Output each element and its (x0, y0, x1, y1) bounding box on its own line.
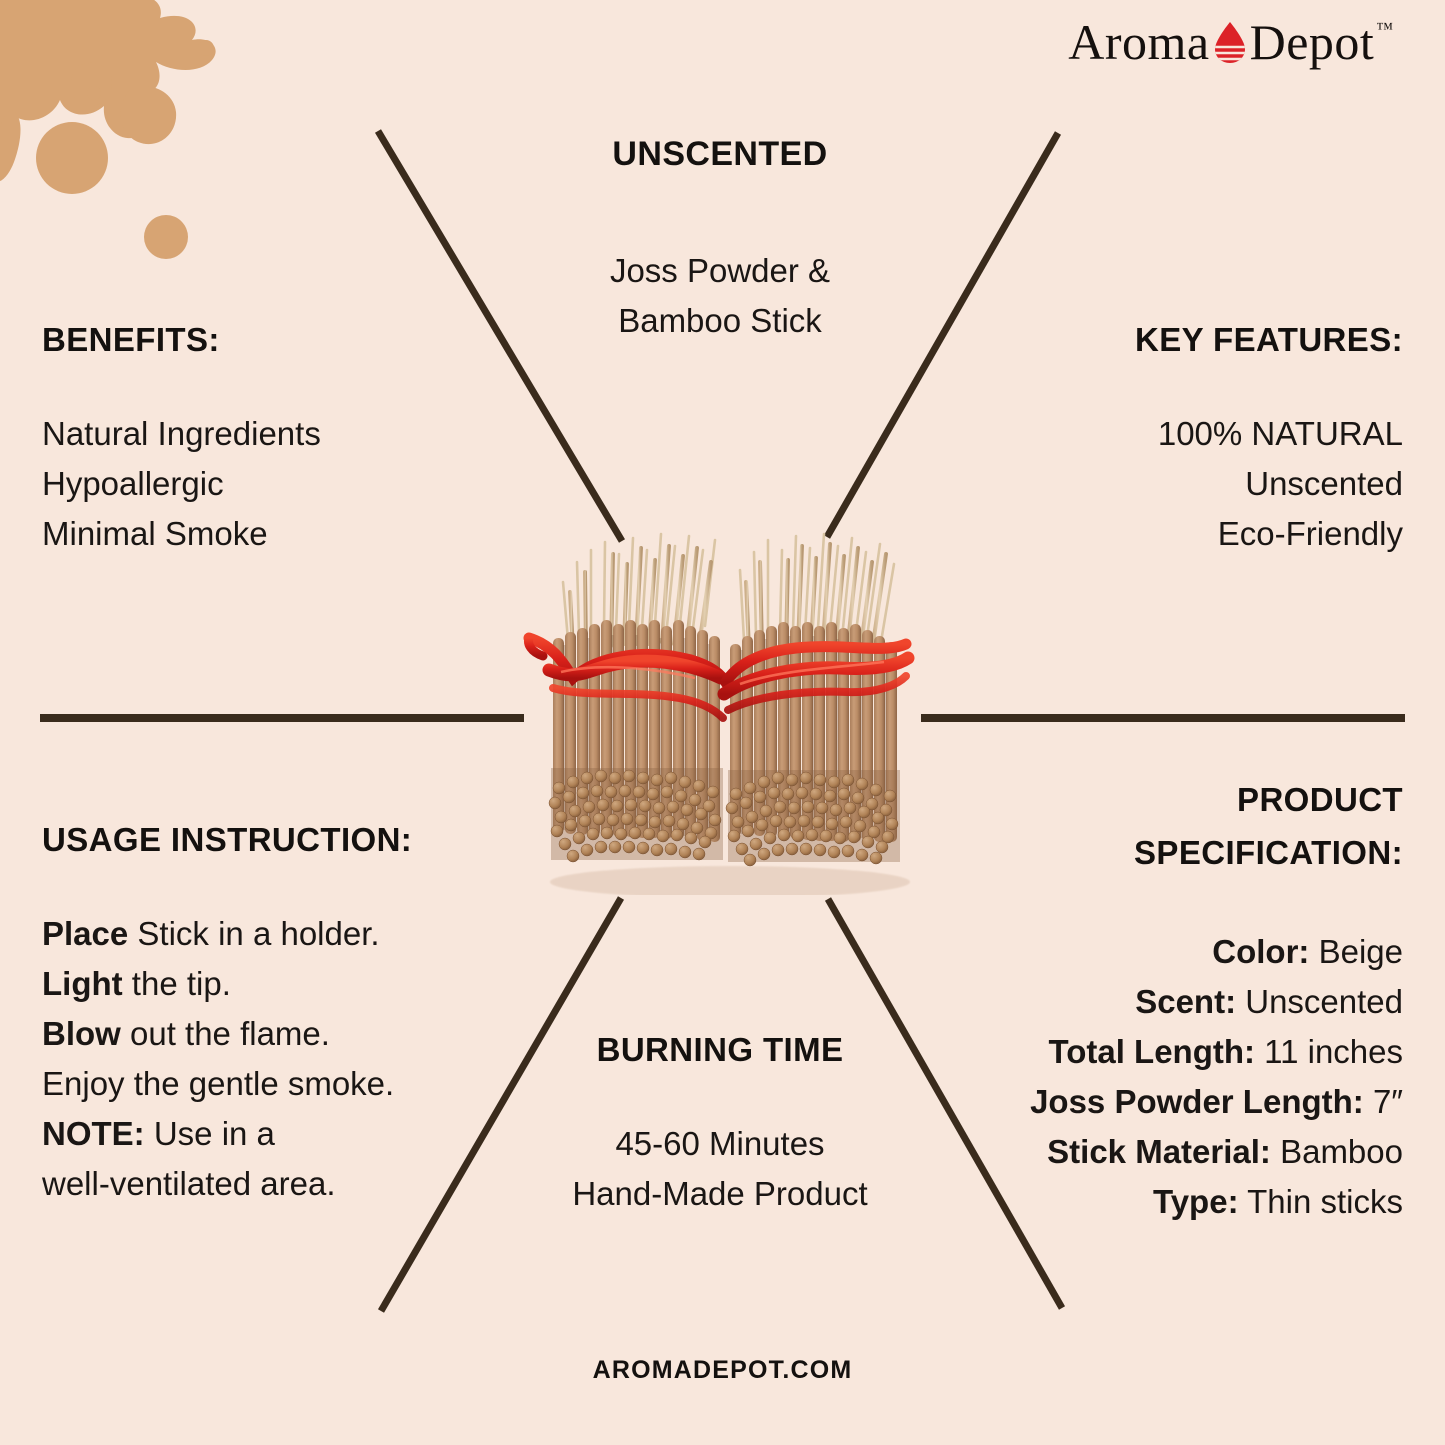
footer-website: AROMADEPOT.COM (0, 1356, 1445, 1385)
spec-value-total-length: 11 inches (1255, 1033, 1403, 1070)
section-unscented: UNSCENTED Joss Powder & Bamboo Stick (455, 133, 985, 346)
usage-step-3-keyword: Blow (42, 1015, 121, 1052)
unscented-heading: UNSCENTED (455, 133, 985, 176)
incense-bundles-image (515, 520, 945, 895)
logo-word-depot: Depot (1250, 14, 1375, 70)
benefits-heading: BENEFITS: (42, 318, 472, 361)
section-benefits: BENEFITS: Natural Ingredients Hypoallerg… (42, 318, 472, 559)
spec-label-total-length: Total Length: (1049, 1033, 1256, 1070)
paint-splatter-decoration (0, 0, 290, 270)
section-key-features: KEY FEATURES: 100% NATURAL Unscented Eco… (963, 318, 1403, 559)
usage-step-4-text: Enjoy the gentle smoke. (42, 1065, 394, 1102)
key-features-item-1: 100% NATURAL (963, 409, 1403, 459)
benefits-item-2: Hypoallergic (42, 459, 472, 509)
usage-step-2: Light the tip. (42, 959, 542, 1009)
spec-value-stick-material: Bamboo (1271, 1133, 1403, 1170)
product-spec-heading-line-2: SPECIFICATION: (903, 831, 1403, 875)
benefits-item-3: Minimal Smoke (42, 509, 472, 559)
usage-step-3-text: out the flame. (121, 1015, 330, 1052)
usage-step-5-keyword: NOTE: (42, 1115, 145, 1152)
usage-step-2-keyword: Light (42, 965, 123, 1002)
spec-value-color: Beige (1309, 933, 1403, 970)
trademark-symbol: ™ (1376, 20, 1393, 37)
key-features-item-2: Unscented (963, 459, 1403, 509)
cut-ends-right (726, 770, 900, 866)
droplet-icon (1210, 14, 1250, 70)
usage-step-6-text: well-ventilated area. (42, 1165, 336, 1202)
key-features-item-3: Eco-Friendly (963, 509, 1403, 559)
spec-row-color: Color: Beige (903, 927, 1403, 977)
spec-label-type: Type: (1153, 1183, 1239, 1220)
spec-label-scent: Scent: (1135, 983, 1236, 1020)
spec-row-scent: Scent: Unscented (903, 977, 1403, 1027)
product-spec-heading-line-1: PRODUCT (903, 778, 1403, 822)
unscented-line-1: Joss Powder & (455, 246, 985, 296)
product-infographic: Aroma Depot ™ (0, 0, 1445, 1445)
logo-word-aroma: Aroma (1068, 14, 1209, 70)
usage-step-1: Place Stick in a holder. (42, 909, 542, 959)
usage-heading: USAGE INSTRUCTION: (42, 818, 542, 861)
usage-step-1-keyword: Place (42, 915, 128, 952)
incense-bundle-right (724, 534, 908, 866)
spec-row-joss-powder-length: Joss Powder Length: 7″ (903, 1077, 1403, 1127)
unscented-line-2: Bamboo Stick (455, 296, 985, 346)
spec-value-scent: Unscented (1236, 983, 1403, 1020)
cut-ends-left (549, 768, 723, 862)
benefits-item-1: Natural Ingredients (42, 409, 472, 459)
spec-label-color: Color: (1212, 933, 1309, 970)
key-features-heading: KEY FEATURES: (963, 318, 1403, 361)
spec-row-stick-material: Stick Material: Bamboo (903, 1127, 1403, 1177)
section-product-specification: PRODUCT SPECIFICATION: Color: Beige Scen… (903, 778, 1403, 1227)
spec-row-type: Type: Thin sticks (903, 1177, 1403, 1227)
usage-step-1-text: Stick in a holder. (128, 915, 379, 952)
brand-logo: Aroma Depot ™ (1068, 14, 1393, 80)
incense-bundle-left (529, 534, 727, 862)
spec-row-total-length: Total Length: 11 inches (903, 1027, 1403, 1077)
usage-step-5-text: Use in a (145, 1115, 275, 1152)
spec-label-joss-powder-length: Joss Powder Length: (1030, 1083, 1364, 1120)
spec-label-stick-material: Stick Material: (1047, 1133, 1271, 1170)
spec-value-joss-powder-length: 7″ (1364, 1083, 1403, 1120)
spec-value-type: Thin sticks (1239, 1183, 1403, 1220)
usage-step-2-text: the tip. (123, 965, 231, 1002)
